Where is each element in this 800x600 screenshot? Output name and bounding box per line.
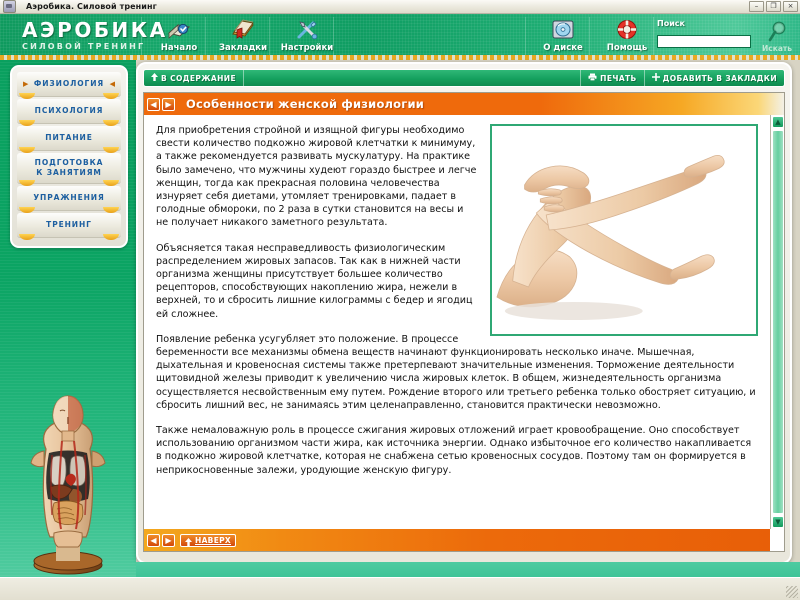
toolbar-label-about-disc: О диске bbox=[532, 43, 594, 54]
woman-legs-photo bbox=[495, 129, 753, 331]
plus-icon bbox=[652, 73, 660, 83]
home-icon bbox=[148, 17, 210, 43]
article-paragraph: Также немаловажную роль в процессе сжига… bbox=[156, 424, 758, 477]
sidebar-item-label: ФИЗИОЛОГИЯ bbox=[34, 79, 104, 89]
disc-icon bbox=[532, 17, 594, 43]
add-bookmark-button[interactable]: ДОБАВИТЬ В ЗАКЛАДКИ bbox=[644, 70, 784, 86]
sidebar-item-label: ПОДГОТОВКА К ЗАНЯТИЯМ bbox=[35, 158, 104, 178]
status-bar bbox=[0, 577, 800, 600]
content-navbar: В СОДЕРЖАНИЕ ПЕЧАТЬ bbox=[143, 69, 785, 87]
scroll-to-top-label: НАВЕРХ bbox=[195, 536, 231, 545]
content-window: В СОДЕРЖАНИЕ ПЕЧАТЬ bbox=[136, 62, 792, 564]
resize-grip[interactable] bbox=[786, 586, 798, 598]
toolbar-divider bbox=[141, 17, 142, 55]
toolbar-label-bookmarks: Закладки bbox=[212, 43, 274, 54]
printer-icon bbox=[588, 73, 597, 83]
brand-logo: АЭРОБИКА СИЛОВОЙ ТРЕНИНГ bbox=[22, 19, 168, 52]
search-button[interactable]: Искать bbox=[757, 20, 797, 53]
article-scrollbar[interactable]: ▲ ▼ bbox=[770, 115, 784, 529]
toolbar-button-settings[interactable]: Настройки bbox=[276, 17, 338, 54]
contents-button[interactable]: В СОДЕРЖАНИЕ bbox=[144, 70, 244, 86]
window-title: Аэробика. Силовой тренинг bbox=[26, 2, 157, 11]
sidebar-item-label: ПСИХОЛОГИЯ bbox=[35, 106, 104, 116]
article-figure bbox=[490, 124, 758, 336]
app-header-toolbar: АЭРОБИКА СИЛОВОЙ ТРЕНИНГ Начало bbox=[0, 14, 800, 60]
article-titlebar: ◀ ▶ Особенности женской физиологии bbox=[144, 93, 784, 115]
brand-subtitle: СИЛОВОЙ ТРЕНИНГ bbox=[22, 41, 168, 52]
search-label: Поиск bbox=[657, 18, 753, 29]
toolbar-button-help[interactable]: Помощь bbox=[596, 17, 658, 54]
sidebar-item-physiology[interactable]: ▶ ФИЗИОЛОГИЯ ◀ bbox=[17, 72, 121, 97]
minimize-button[interactable]: – bbox=[749, 1, 764, 12]
footer-prev-button[interactable]: ◀ bbox=[147, 534, 160, 547]
footer-next-button[interactable]: ▶ bbox=[162, 534, 175, 547]
sidebar-item-label: УПРАЖНЕНИЯ bbox=[33, 193, 104, 203]
toolbar-label-home: Начало bbox=[148, 43, 210, 54]
selected-right-arrow-icon: ◀ bbox=[110, 80, 115, 88]
article-prev-button[interactable]: ◀ bbox=[147, 98, 160, 111]
scroll-to-top-button[interactable]: НАВЕРХ bbox=[180, 534, 236, 547]
up-arrow-icon bbox=[185, 531, 192, 550]
toolbar-button-bookmarks[interactable]: Закладки bbox=[212, 17, 274, 54]
sidebar-panel: ▶ ФИЗИОЛОГИЯ ◀ ПСИХОЛОГИЯ ПИТАНИЕ ПОДГОТ… bbox=[0, 60, 136, 600]
sidebar-item-label: ТРЕНИНГ bbox=[46, 220, 92, 230]
book-icon bbox=[212, 17, 274, 43]
scrollbar-thumb[interactable] bbox=[772, 130, 784, 514]
sidebar-item-preparation[interactable]: ПОДГОТОВКА К ЗАНЯТИЯМ bbox=[17, 153, 121, 184]
article-paragraph: Появление ребенка усугубляет это положен… bbox=[156, 333, 758, 412]
sidebar-item-nutrition[interactable]: ПИТАНИЕ bbox=[17, 126, 121, 151]
print-button-label: ПЕЧАТЬ bbox=[600, 74, 637, 83]
sidebar-item-psychology[interactable]: ПСИХОЛОГИЯ bbox=[17, 99, 121, 124]
application-window: Аэробика. Силовой тренинг – ❐ × АЭРОБИКА… bbox=[0, 0, 800, 600]
bottom-green-strip bbox=[136, 562, 800, 578]
anatomical-torso-image bbox=[16, 393, 120, 578]
article-body: Для приобретения стройной и изящной фигу… bbox=[144, 115, 770, 529]
print-button[interactable]: ПЕЧАТЬ bbox=[580, 70, 644, 86]
article-document: ◀ ▶ Особенности женской физиологии bbox=[143, 92, 785, 552]
scroll-up-button[interactable]: ▲ bbox=[772, 116, 784, 128]
sidebar-item-label: ПИТАНИЕ bbox=[45, 133, 92, 143]
sidebar-item-label-line1: ПОДГОТОВКА bbox=[35, 158, 104, 167]
window-titlebar: Аэробика. Силовой тренинг – ❐ × bbox=[0, 0, 800, 14]
window-controls: – ❐ × bbox=[749, 1, 798, 12]
menu-tab-left bbox=[19, 234, 35, 240]
selected-left-arrow-icon: ▶ bbox=[23, 80, 28, 88]
toolbar-label-help: Помощь bbox=[596, 43, 658, 54]
sidebar-menu: ▶ ФИЗИОЛОГИЯ ◀ ПСИХОЛОГИЯ ПИТАНИЕ ПОДГОТ… bbox=[10, 65, 128, 248]
up-arrow-icon bbox=[151, 73, 158, 83]
sidebar-item-exercises[interactable]: УПРАЖНЕНИЯ bbox=[17, 186, 121, 211]
brand-title: АЭРОБИКА bbox=[22, 19, 168, 41]
article-footer: ◀ ▶ НАВЕРХ bbox=[144, 529, 770, 551]
lifebuoy-icon bbox=[596, 17, 658, 43]
scroll-down-button[interactable]: ▼ bbox=[772, 516, 784, 528]
restore-button[interactable]: ❐ bbox=[766, 1, 781, 12]
tools-icon bbox=[276, 17, 338, 43]
toolbar-button-about-disc[interactable]: О диске bbox=[532, 17, 594, 54]
sidebar-item-training[interactable]: ТРЕНИНГ bbox=[17, 213, 121, 238]
app-icon bbox=[3, 0, 16, 13]
article-title: Особенности женской физиологии bbox=[186, 97, 424, 111]
add-bookmark-button-label: ДОБАВИТЬ В ЗАКЛАДКИ bbox=[663, 74, 777, 83]
contents-button-label: В СОДЕРЖАНИЕ bbox=[161, 74, 236, 83]
sidebar-item-label-line2: К ЗАНЯТИЯМ bbox=[36, 168, 102, 177]
search-button-label: Искать bbox=[757, 44, 797, 53]
toolbar-divider bbox=[525, 17, 526, 55]
toolbar-label-settings: Настройки bbox=[276, 43, 338, 54]
toolbar-button-home[interactable]: Начало bbox=[148, 17, 210, 54]
close-button[interactable]: × bbox=[783, 1, 798, 12]
search-input[interactable] bbox=[657, 35, 751, 48]
menu-tab-right bbox=[103, 234, 119, 240]
search-area: Поиск bbox=[657, 18, 753, 48]
article-next-button[interactable]: ▶ bbox=[162, 98, 175, 111]
